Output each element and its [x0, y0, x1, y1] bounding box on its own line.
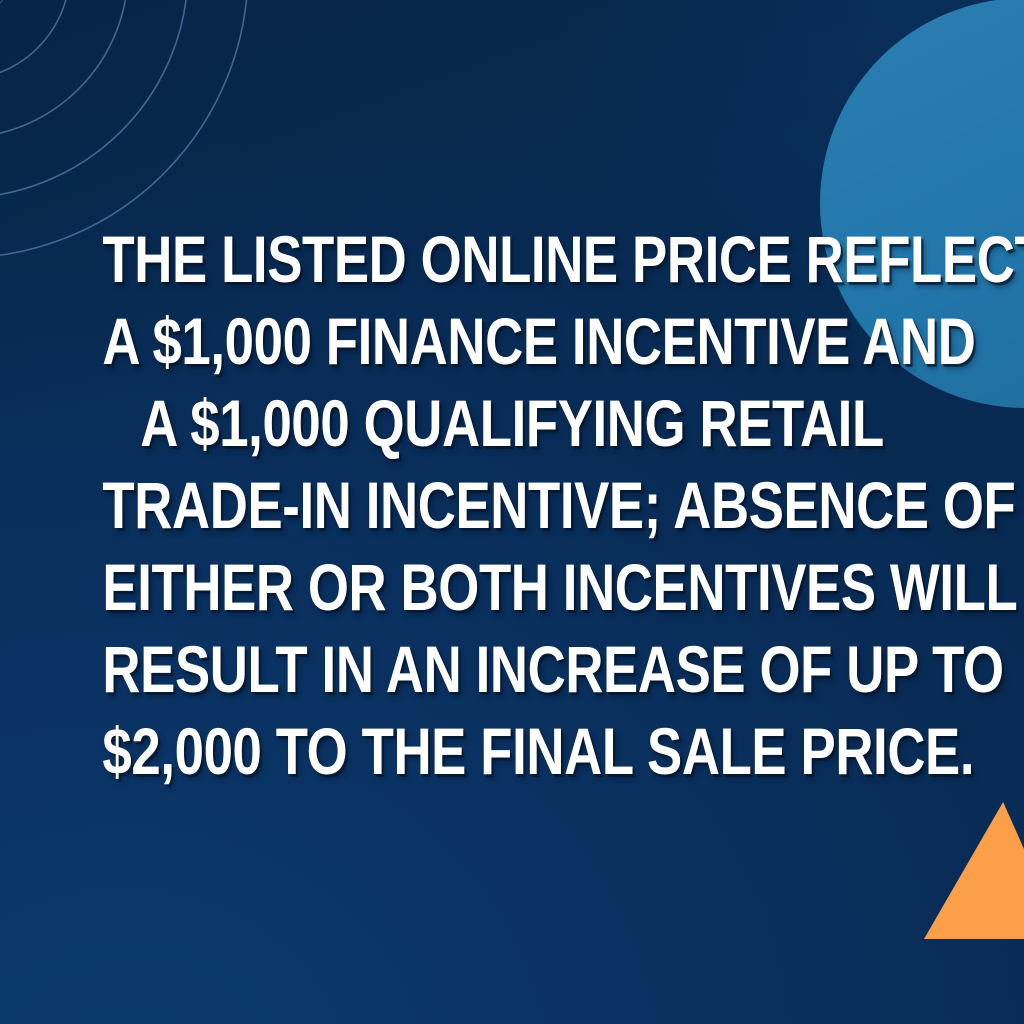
headline-line-7: $2,000 TO THE FINAL SALE PRICE. [102, 710, 921, 792]
disclaimer-headline: THE LISTED ONLINE PRICE REFLECTS A $1,00… [0, 218, 1024, 792]
headline-line-5: EITHER OR BOTH INCENTIVES WILL [102, 546, 921, 628]
headline-line-6: RESULT IN AN INCREASE OF UP TO [102, 628, 921, 710]
headline-line-2: A $1,000 FINANCE INCENTIVE AND [102, 300, 921, 382]
disclaimer-graphic: THE LISTED ONLINE PRICE REFLECTS A $1,00… [0, 0, 1024, 1024]
headline-line-3: A $1,000 QUALIFYING RETAIL [102, 382, 921, 464]
headline-line-1: THE LISTED ONLINE PRICE REFLECTS [102, 218, 921, 300]
headline-line-4: TRADE-IN INCENTIVE; ABSENCE OF [102, 464, 921, 546]
